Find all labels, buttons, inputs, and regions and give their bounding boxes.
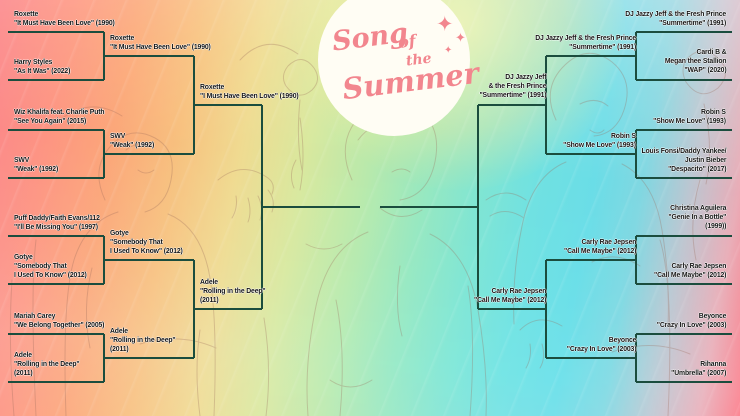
entry-song: "Weak" (1992)	[110, 140, 154, 149]
entry-song: "See You Again" (2015)	[14, 116, 86, 125]
bracket-entry[interactable]: Robin S"Show Me Love" (1993)	[563, 131, 636, 149]
entry-artist: Adele	[200, 277, 218, 286]
entry-song: "Call Me Maybe" (2012)	[564, 246, 636, 255]
bracket-entry[interactable]: Carly Rae Jepsen"Call Me Maybe" (2012)	[564, 237, 636, 255]
entry-song: "WAP" (2020)	[684, 65, 726, 74]
entry-artist: SWV	[14, 155, 29, 164]
entry-artist: Cardi B & Megan thee Stallion	[664, 47, 726, 65]
entry-artist: Carly Rae Jepsen	[671, 261, 726, 270]
entry-artist: DJ Jazzy Jeff & the Fresh Prince	[488, 72, 546, 90]
bracket-entry[interactable]: Roxette"It Must Have Been Love" (1990)	[110, 33, 211, 51]
entry-song: "Rolling in the Deep" (2011)	[110, 335, 176, 353]
entry-song: "Show Me Love" (1993)	[563, 140, 636, 149]
entry-song: "I Must Have Been Love" (1990)	[200, 91, 299, 100]
entry-artist: Adele	[110, 326, 128, 335]
bracket-entry[interactable]: Gotye"Somebody That I Used To Know" (201…	[14, 252, 87, 280]
song-of-the-summer-bracket: Song of the Summer ✦ ✦ ✦	[0, 0, 740, 416]
entry-artist: Adele	[14, 350, 32, 359]
entry-artist: Beyonce	[608, 335, 636, 344]
entry-song: "Summertime" (1991)	[569, 42, 636, 51]
entry-song: "Genie In a Bottle" (1999))	[668, 212, 726, 230]
entry-artist: Mariah Carey	[14, 311, 55, 320]
bracket-entry[interactable]: Harry Styles"As It Was" (2022)	[14, 57, 70, 75]
bracket-entry[interactable]: Mariah Carey"We Belong Together" (2005)	[14, 311, 104, 329]
bracket-entry[interactable]: DJ Jazzy Jeff & the Fresh Prince"Summert…	[479, 72, 546, 100]
entry-artist: Louis Fonsi/Daddy Yankee/ Justin Bieber	[641, 146, 726, 164]
entry-song: "Despacito" (2017)	[668, 164, 726, 173]
entry-artist: Christina Aguilera	[670, 203, 726, 212]
entry-song: "We Belong Together" (2005)	[14, 320, 104, 329]
entry-artist: Wiz Khalifa feat. Charlie Puth	[14, 107, 104, 116]
bracket-entry[interactable]: Adele"Rolling in the Deep" (2011)	[110, 326, 176, 354]
entry-song: "Crazy In Love" (2003)	[566, 344, 636, 353]
entry-artist: Roxette	[14, 9, 38, 18]
entry-song: "I'll Be Missing You" (1997)	[14, 222, 98, 231]
bracket-entry[interactable]: Carly Rae Jepsen"Call Me Maybe" (2012)	[654, 261, 726, 279]
bracket-entry[interactable]: Adele"Rolling in the Deep" (2011)	[14, 350, 80, 378]
entry-artist: Harry Styles	[14, 57, 52, 66]
bracket-entry[interactable]: Robin S"Show Me Love" (1993)	[653, 107, 726, 125]
bracket-entry[interactable]: DJ Jazzy Jeff & the Fresh Prince"Summert…	[535, 33, 636, 51]
entry-artist: Rihanna	[700, 359, 726, 368]
bracket-entry[interactable]: SWV"Weak" (1992)	[110, 131, 154, 149]
entry-song: "Crazy In Love" (2003)	[656, 320, 726, 329]
bracket-entry[interactable]: Christina Aguilera"Genie In a Bottle" (1…	[668, 203, 726, 231]
bracket-entry[interactable]: DJ Jazzy Jeff & the Fresh Prince"Summert…	[625, 9, 726, 27]
entry-artist: Puff Daddy/Faith Evans/112	[14, 213, 100, 222]
entry-artist: Roxette	[200, 82, 224, 91]
entry-artist: DJ Jazzy Jeff & the Fresh Prince	[535, 33, 636, 42]
entry-song: "Umbrella" (2007)	[671, 368, 726, 377]
entry-artist: Robin S	[611, 131, 636, 140]
entry-song: "It Must Have Been Love" (1990)	[14, 18, 115, 27]
bracket-entry[interactable]: Roxette"It Must Have Been Love" (1990)	[14, 9, 115, 27]
entry-song: "Rolling in the Deep" (2011)	[200, 286, 266, 304]
bracket-entry[interactable]: Rihanna"Umbrella" (2007)	[671, 359, 726, 377]
entry-artist: SWV	[110, 131, 125, 140]
bracket-entry[interactable]: Adele"Rolling in the Deep" (2011)	[200, 277, 266, 305]
bracket-entry[interactable]: Puff Daddy/Faith Evans/112"I'll Be Missi…	[14, 213, 100, 231]
bracket-entry[interactable]: Cardi B & Megan thee Stallion"WAP" (2020…	[664, 47, 726, 75]
bracket-entry[interactable]: Beyonce"Crazy In Love" (2003)	[656, 311, 726, 329]
bracket-entry[interactable]: Carly Rae Jepsen"Call Me Maybe" (2012)	[474, 286, 546, 304]
entry-song: "Rolling in the Deep" (2011)	[14, 359, 80, 377]
entry-song: "Somebody That I Used To Know" (2012)	[110, 237, 183, 255]
bracket-entry[interactable]: Gotye"Somebody That I Used To Know" (201…	[110, 228, 183, 256]
bracket-entry[interactable]: SWV"Weak" (1992)	[14, 155, 58, 173]
bracket-entry[interactable]: Louis Fonsi/Daddy Yankee/ Justin Bieber"…	[641, 146, 726, 174]
entry-song: "Call Me Maybe" (2012)	[474, 295, 546, 304]
entry-artist: DJ Jazzy Jeff & the Fresh Prince	[625, 9, 726, 18]
entry-artist: Robin S	[701, 107, 726, 116]
entry-song: "Somebody That I Used To Know" (2012)	[14, 261, 87, 279]
entry-artist: Carly Rae Jepsen	[491, 286, 546, 295]
entry-song: "It Must Have Been Love" (1990)	[110, 42, 211, 51]
entry-song: "Weak" (1992)	[14, 164, 58, 173]
entry-song: "As It Was" (2022)	[14, 66, 70, 75]
entry-song: "Call Me Maybe" (2012)	[654, 270, 726, 279]
bracket-entry[interactable]: Roxette"I Must Have Been Love" (1990)	[200, 82, 299, 100]
bracket-entry[interactable]: Beyonce"Crazy In Love" (2003)	[566, 335, 636, 353]
entry-artist: Carly Rae Jepsen	[581, 237, 636, 246]
entry-artist: Gotye	[110, 228, 129, 237]
entry-artist: Roxette	[110, 33, 134, 42]
entry-artist: Gotye	[14, 252, 33, 261]
entry-song: "Summertime" (1991)	[479, 90, 546, 99]
bracket-entry[interactable]: Wiz Khalifa feat. Charlie Puth"See You A…	[14, 107, 104, 125]
entry-artist: Beyonce	[698, 311, 726, 320]
entry-song: "Summertime" (1991)	[659, 18, 726, 27]
entry-song: "Show Me Love" (1993)	[653, 116, 726, 125]
